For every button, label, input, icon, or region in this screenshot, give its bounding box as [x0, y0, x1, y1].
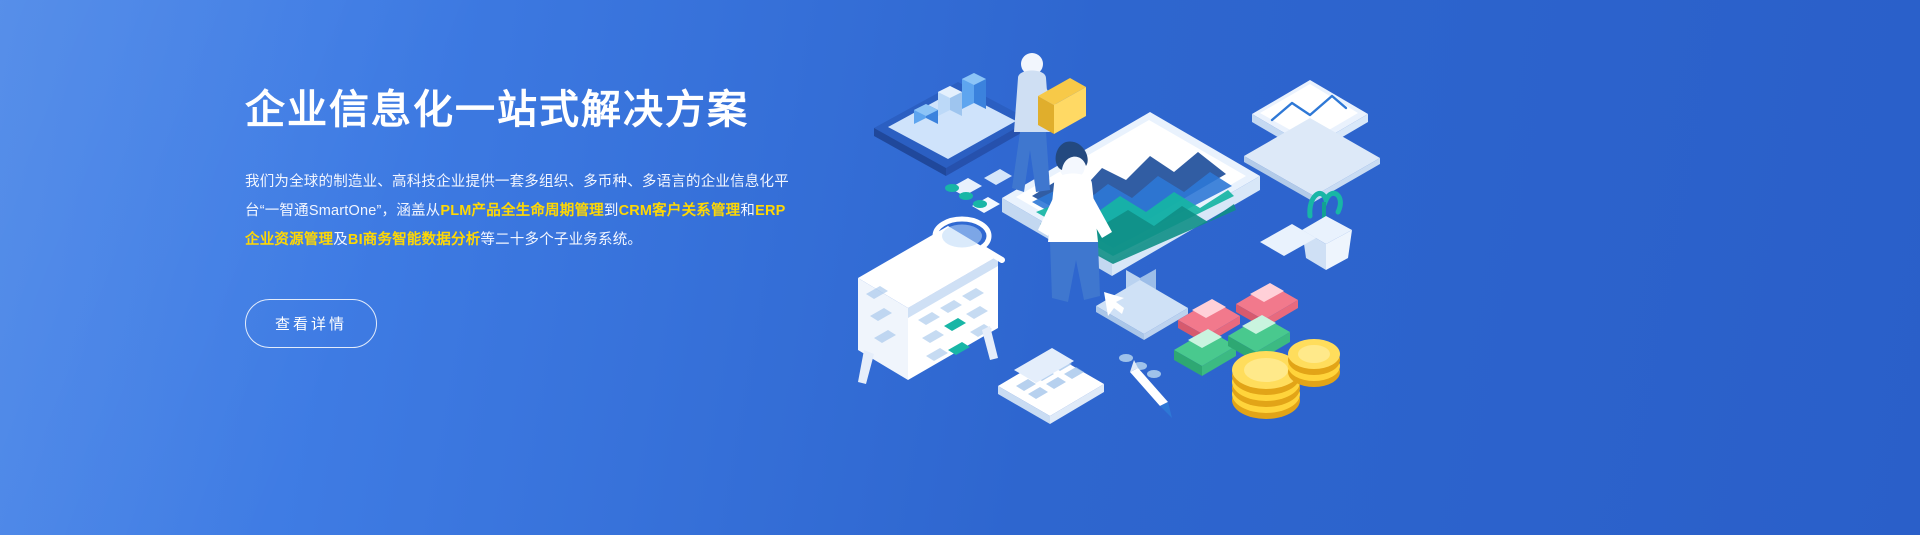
bar-chart-tablet — [874, 73, 1030, 176]
hero-description: 我们为全球的制造业、高科技企业提供一套多组织、多币种、多语言的企业信息化平台“一… — [245, 168, 793, 255]
desc-segment-7: 及 — [333, 232, 348, 248]
calculator — [998, 348, 1104, 424]
hero-banner: 企业信息化一站式解决方案 我们为全球的制造业、高科技企业提供一套多组织、多币种、… — [0, 0, 1920, 535]
desc-keyword-bi: BI商务智能数据分析 — [348, 232, 481, 248]
hero-content: 企业信息化一站式解决方案 我们为全球的制造业、高科技企业提供一套多组织、多币种、… — [245, 86, 805, 348]
desc-segment-3: 到 — [604, 203, 619, 219]
desc-keyword-plm: PLM产品全生命周期管理 — [440, 203, 604, 219]
page-title: 企业信息化一站式解决方案 — [245, 86, 805, 134]
pen — [1130, 360, 1172, 418]
desc-segment-5: 和 — [740, 203, 755, 219]
desc-segment-1: “一智通SmartOne”，涵盖从 — [260, 203, 441, 219]
potted-plant — [1302, 193, 1352, 270]
laptop-line-chart — [1244, 80, 1380, 202]
view-details-button[interactable]: 查看详情 — [245, 299, 377, 348]
hero-illustration — [840, 20, 1400, 440]
desc-segment-9: 等二十多个子业务系统。 — [480, 232, 642, 248]
cta-container: 查看详情 — [245, 299, 805, 348]
desc-keyword-crm: CRM客户关系管理 — [619, 203, 741, 219]
